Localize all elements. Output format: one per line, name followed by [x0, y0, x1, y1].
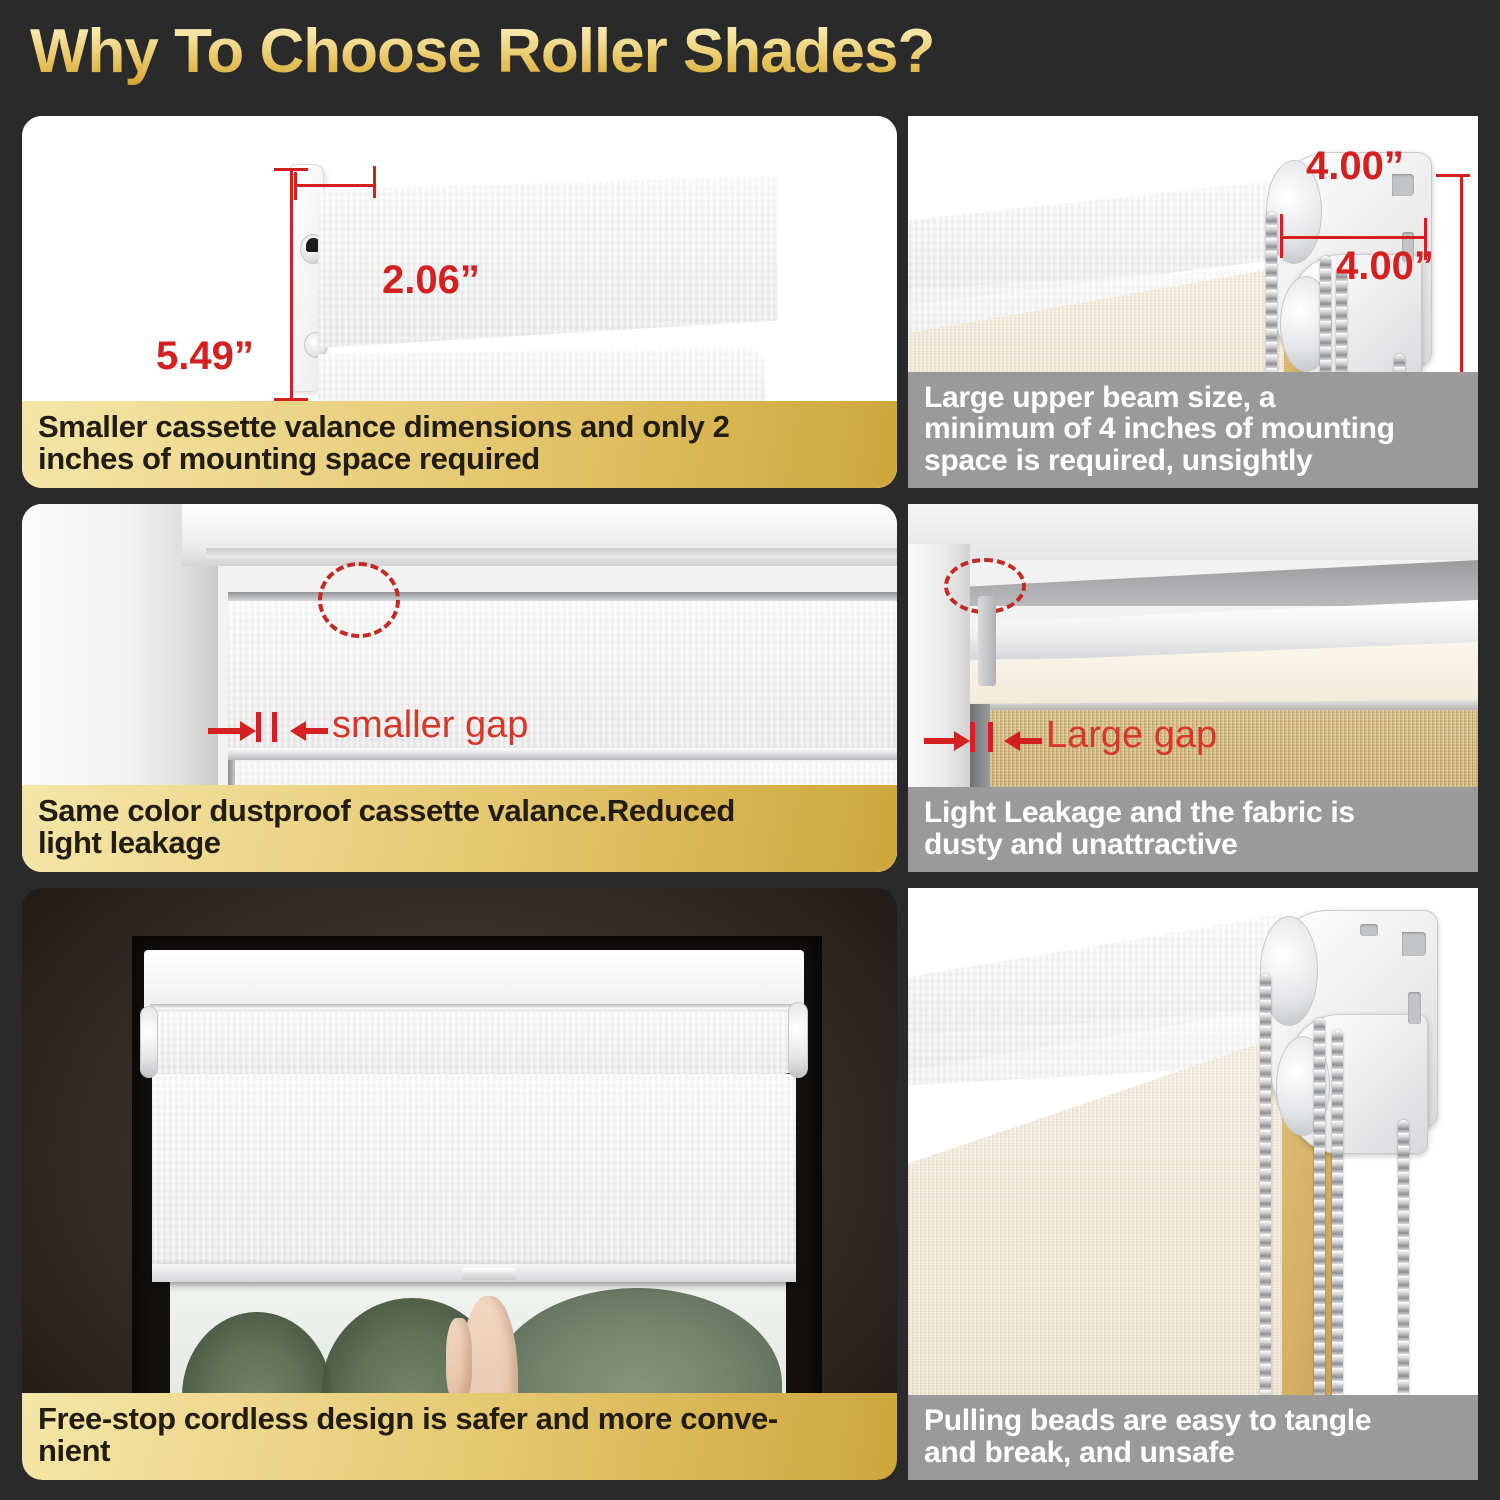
annotation-width-2-06: 2.06”: [382, 258, 480, 303]
beam-height-dim-line: [1460, 174, 1463, 376]
bracket-slot-small: [1360, 924, 1378, 936]
shade-main-fabric: [152, 1074, 796, 1282]
gap-arrow-in-left: [208, 728, 244, 734]
gap-arrow-head-left: [954, 731, 970, 751]
width-dim-right-tick: [373, 166, 376, 198]
beam-width-dim-line: [1280, 236, 1426, 239]
panel-light-leakage[interactable]: Large gap Light Leakage and the fabric i…: [908, 504, 1478, 872]
annotation-beam-width-4-00: 4.00”: [1306, 144, 1404, 189]
pulling-beads-photo: [908, 888, 1478, 1480]
gap-tick-right: [272, 712, 277, 742]
caption-large-upper-beam: Large upper beam size, a minimum of 4 in…: [908, 372, 1478, 489]
caption-cassette-dimensions: Smaller cassette valance dimensions and …: [22, 401, 897, 488]
panel-cordless-design[interactable]: Free-stop cordless design is safer and m…: [22, 888, 897, 1480]
height-dimension-line: [290, 168, 293, 400]
gap-arrow-in-right: [1020, 738, 1042, 744]
panel-dustproof-cassette[interactable]: smaller gap Same color dustproof cassett…: [22, 504, 897, 872]
ceiling-band: [908, 504, 1478, 560]
gap-arrow-in-right: [306, 728, 328, 734]
beam-height-top-tick: [1436, 174, 1470, 177]
comparison-grid: 5.49” 2.06” Smaller cassette valance dim…: [0, 0, 1500, 1500]
height-dim-top-tick: [274, 168, 308, 171]
bracket-slot-top: [1402, 932, 1426, 956]
caption-dustproof-cassette: Same color dustproof cassette valance.Re…: [22, 785, 897, 872]
panel-pulling-beads[interactable]: Pulling beads are easy to tangle and bre…: [908, 888, 1478, 1480]
exposed-bracket-nub: [978, 596, 996, 686]
width-dim-left-tick: [294, 172, 297, 200]
annotation-smaller-gap: smaller gap: [332, 704, 528, 747]
highlight-circle: [318, 562, 400, 638]
cordless-design-photo: [22, 888, 897, 1480]
hand-thumb: [446, 1318, 472, 1404]
cassette-valance-bottom-lip: [228, 748, 897, 760]
panel-large-upper-beam[interactable]: 4.00” 4.00” Large upper beam size, a min…: [908, 116, 1478, 488]
beam-width-left-tick: [1280, 214, 1283, 258]
gap-tick-right: [988, 722, 993, 752]
annotation-beam-height-4-00: 4.00”: [1336, 244, 1434, 289]
caption-cordless-design: Free-stop cordless design is safer and m…: [22, 1393, 897, 1480]
shade-pull-tab: [462, 1268, 516, 1280]
caption-light-leakage: Light Leakage and the fabric is dusty an…: [908, 787, 1478, 872]
valance-end-cap-right: [788, 1002, 808, 1078]
window-frame-inner-edge: [206, 548, 897, 558]
shade-upper-fabric: [150, 1012, 798, 1074]
panel-cassette-dimensions[interactable]: 5.49” 2.06” Smaller cassette valance dim…: [22, 116, 897, 488]
gap-arrow-in-left: [924, 738, 958, 744]
gap-arrow-head-right: [290, 721, 306, 741]
annotation-large-gap: Large gap: [1046, 714, 1217, 757]
bracket-slot-mid: [1408, 992, 1421, 1024]
gap-arrow-head-right: [1004, 731, 1020, 751]
gap-tick-left: [256, 712, 261, 742]
gap-tick-left: [970, 722, 975, 752]
width-dimension-line: [294, 184, 376, 187]
gap-arrow-head-left: [240, 721, 256, 741]
annotation-height-5-49: 5.49”: [156, 334, 254, 379]
valance-seam: [150, 1004, 798, 1009]
valance-end-cap-left: [140, 1006, 158, 1078]
caption-pulling-beads: Pulling beads are easy to tangle and bre…: [908, 1395, 1478, 1480]
